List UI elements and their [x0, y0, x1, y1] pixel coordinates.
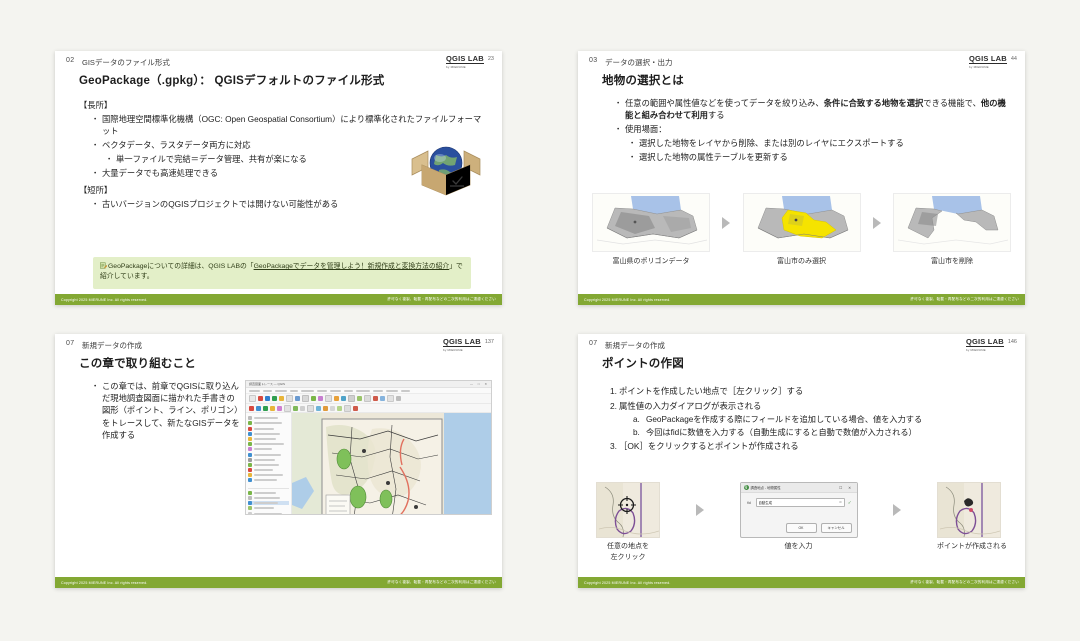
bullet-text-c: する [708, 110, 725, 120]
brand-logo: QGIS LAB by MIERUNE 23 [446, 55, 494, 70]
qgis-icon: Q [744, 485, 749, 490]
section-number: 03 [589, 57, 597, 64]
slide-geopackage[interactable]: 02 GISデータのファイル形式 QGIS LAB by MIERUNE 23 … [55, 51, 502, 305]
step-caption-line-2: 左クリック [596, 553, 660, 564]
list-item: 任意の範囲や属性値などを使ってデータを絞り込み、条件に合致する地物を選択できる機… [614, 97, 1011, 122]
section-title: データの選択・出力 [605, 57, 673, 68]
section-number: 07 [589, 340, 597, 347]
dialog-title: 調査地点 - 地物属性 [751, 485, 781, 490]
logo-subtext: by MIERUNE [443, 348, 463, 353]
list-item: 3. ［OK］をクリックするとポイントが作成される [604, 440, 1011, 454]
brand-logo: QGIS LAB by MIERUNE 146 [966, 338, 1017, 353]
map-caption: 富山市を削除 [893, 256, 1011, 266]
toyama-deleted-map-icon [894, 194, 1011, 252]
logo-subtext: by MIERUNE [966, 348, 986, 353]
step-text: 属性値の入力ダイアログが表示される [619, 401, 761, 411]
app-toolbar-row-1 [246, 394, 491, 404]
slide-footer: Copyright 2025 MIERUNE Inc. All rights r… [578, 577, 1025, 588]
list-item: a. GeoPackageを作成する際にフィールドを追加している場合、値を入力す… [633, 413, 1011, 426]
footer-copyright: Copyright 2025 MIERUNE Inc. All rights r… [584, 581, 671, 585]
map-step-2: 富山市のみ選択 [743, 193, 861, 266]
map-caption: 富山県のポリゴンデータ [592, 256, 710, 266]
step-thumb-3: ポイントが作成される [937, 482, 1007, 553]
list-item: 選択した地物の属性テーブルを更新する [628, 151, 1011, 163]
substep-text: GeoPackageを作成する際にフィールドを追加している場合、値を入力する [646, 415, 922, 424]
arrow-right-icon [696, 504, 704, 516]
section-number: 07 [66, 340, 74, 347]
sub-bullet-list: 選択した地物をレイヤから削除、または別のレイヤにエクスポートする 選択した地物の… [628, 137, 1011, 163]
section-title: 新規データの作成 [82, 340, 142, 351]
map-caption: 富山市のみ選択 [743, 256, 861, 266]
app-toolbar-row-2 [246, 404, 491, 413]
toyama-base-map-icon [593, 194, 710, 252]
map-thumbnail-click-point [596, 482, 660, 538]
section-title: GISデータのファイル形式 [82, 57, 170, 68]
map-example-strip: 富山県のポリゴンデータ 富山市のみ選択 [592, 193, 1011, 266]
map-canvas-content-icon [292, 413, 491, 515]
footer-notice: 許可なく複製、転載・再配布などの二次的利用はご遠慮ください [910, 297, 1019, 302]
list-item: 選択した地物をレイヤから削除、または別のレイヤにエクスポートする [628, 137, 1011, 149]
map-thumbnail-deleted [893, 193, 1011, 252]
arrow-right-icon [893, 504, 901, 516]
slide-header: 07 新規データの作成 QGIS LAB by MIERUNE 137 [55, 334, 502, 354]
page-title: GeoPackage（.gpkg）： QGISデフォルトのファイル形式 [79, 72, 502, 88]
map-step-1: 富山県のポリゴンデータ [592, 193, 710, 266]
substep-text: 今回はfidに数値を入力する（自動生成にすると自動で数値が入力される） [646, 428, 917, 437]
bullet-text-b: できる機能で、 [923, 98, 981, 108]
footer-notice: 許可なく複製、転載・再配布などの二次的利用はご遠慮ください [387, 580, 496, 585]
slide-board: 02 GISデータのファイル形式 QGIS LAB by MIERUNE 23 … [0, 0, 1080, 641]
logo-text: QGIS LAB [443, 338, 481, 347]
main-bullet-list: この章では、前章でQGISに取り込んだ現地調査図面に描かれた手書きの図形（ポイン… [91, 380, 242, 442]
bullet-bold-a: 条件に合致する地物を選択 [824, 98, 924, 108]
app-map-canvas[interactable] [292, 413, 491, 515]
arrow-right-icon [722, 217, 730, 229]
globe-box-icon [406, 137, 486, 199]
map-thumbnail-base [592, 193, 710, 252]
memo-icon [100, 262, 107, 269]
step-caption: 任意の地点を 左クリック [596, 542, 660, 563]
list-item: 国際地理空間標準化機構（OGC: Open Geospatial Consort… [91, 113, 488, 138]
field-value: 自動生成 [759, 500, 773, 505]
window-controls: — □ ✕ [470, 382, 489, 386]
step-thumb-2: Q 調査地点 - 地物属性 ☐ ✕ fid 自動生成 ⊘ ✓ OK [740, 482, 858, 553]
substep-marker: a. [633, 413, 640, 426]
step-caption: 値を入力 [740, 542, 858, 553]
map-thumbnail-point-created [937, 482, 1001, 538]
slide-header: 03 データの選択・出力 QGIS LAB by MIERUNE 44 [578, 51, 1025, 71]
dialog-title-bar: Q 調査地点 - 地物属性 ☐ ✕ [741, 483, 857, 493]
slide-feature-selection[interactable]: 03 データの選択・出力 QGIS LAB by MIERUNE 44 地物の選… [578, 51, 1025, 305]
logo-text: QGIS LAB [966, 338, 1004, 347]
step-example-strip: 任意の地点を 左クリック Q 調査地点 - 地物属性 ☐ ✕ fid 自動生成 [596, 482, 1007, 563]
callout-link[interactable]: GeoPackageでデータを管理しよう！新規作成と変換方法の紹介 [254, 263, 450, 270]
footer-notice: 許可なく複製、転載・再配布などの二次的利用はご遠慮ください [910, 580, 1019, 585]
page-number: 146 [1008, 339, 1017, 345]
step-marker: 2. [604, 400, 617, 414]
brand-logo: QGIS LAB by MIERUNE 137 [443, 338, 494, 353]
arrow-right-icon [873, 217, 881, 229]
globe-in-box-illustration [406, 137, 486, 199]
step-text: ［OK］をクリックするとポイントが作成される [619, 441, 799, 451]
bullet-text-a: 任意の範囲や属性値などを使ってデータを絞り込み、 [625, 98, 824, 108]
list-item: 古いバージョンのQGISプロジェクトでは開けない可能性がある [91, 198, 488, 210]
callout-text: GeoPackageについての詳細は、QGIS LABの「GeoPackageで… [100, 262, 464, 283]
callout-box: GeoPackageについての詳細は、QGIS LABの「GeoPackageで… [93, 257, 471, 289]
page-title: ポイントの作図 [602, 355, 1025, 371]
page-title: 地物の選択とは [602, 72, 1025, 88]
section-number: 02 [66, 57, 74, 64]
page-number: 23 [488, 56, 494, 62]
slide-footer: Copyright 2025 MIERUNE Inc. All rights r… [55, 294, 502, 305]
brand-logo: QGIS LAB by MIERUNE 44 [969, 55, 1017, 70]
step-list: 1. ポイントを作成したい地点で［左クリック］する 2. 属性値の入力ダイアログ… [604, 385, 1011, 454]
logo-subtext: by MIERUNE [969, 65, 989, 70]
footer-notice: 許可なく複製、転載・再配布などの二次的利用はご遠慮ください [387, 297, 496, 302]
dialog-field-row: fid 自動生成 ⊘ ✓ [741, 493, 857, 507]
list-item: 1. ポイントを作成したい地点で［左クリック］する [604, 385, 1011, 399]
step-thumb-1: 任意の地点を 左クリック [596, 482, 660, 563]
slide-header: 02 GISデータのファイル形式 QGIS LAB by MIERUNE 23 [55, 51, 502, 71]
slide-body: 任意の範囲や属性値などを使ってデータを絞り込み、条件に合致する地物を選択できる機… [578, 88, 1025, 163]
footer-copyright: Copyright 2025 MIERUNE Inc. All rights r… [61, 581, 148, 585]
ok-button[interactable]: OK [786, 523, 817, 533]
page-number: 137 [485, 339, 494, 345]
logo-text: QGIS LAB [969, 55, 1007, 64]
step-marker: 1. [604, 385, 617, 399]
merit-label: 【長所】 [79, 99, 488, 111]
map-step-3: 富山市を削除 [893, 193, 1011, 266]
slide-header: 07 新規データの作成 QGIS LAB by MIERUNE 146 [578, 334, 1025, 354]
app-main-area [246, 413, 491, 515]
slide-point-drawing[interactable]: 07 新規データの作成 QGIS LAB by MIERUNE 146 ポイント… [578, 334, 1025, 588]
substep-marker: b. [633, 426, 640, 439]
section-title: 新規データの作成 [605, 340, 665, 351]
step-marker: 3. [604, 440, 617, 454]
list-item: この章では、前章でQGISに取り込んだ現地調査図面に描かれた手書きの図形（ポイン… [91, 380, 242, 442]
list-item: 2. 属性値の入力ダイアログが表示される a. GeoPackageを作成する際… [604, 400, 1011, 440]
cancel-button[interactable]: キャンセル [821, 523, 852, 533]
page-number: 44 [1011, 56, 1017, 62]
slide-footer: Copyright 2025 MIERUNE Inc. All rights r… [578, 294, 1025, 305]
step-text: ポイントを作成したい地点で［左クリック］する [619, 386, 803, 396]
field-label: fid [746, 501, 753, 505]
point-created-map-icon [938, 483, 1001, 538]
step-caption-line-1: 任意の地点を [596, 542, 660, 553]
slide-footer: Copyright 2025 MIERUNE Inc. All rights r… [55, 577, 502, 588]
qgis-application-screenshot: 調査図面トレース — QGIS — □ ✕ [245, 380, 492, 515]
page-title: この章で取り組むこと [79, 355, 502, 371]
step-caption: ポイントが作成される [937, 542, 1007, 553]
demerit-list: 古いバージョンのQGISプロジェクトでは開けない可能性がある [91, 198, 488, 210]
step-caption-line-1: ポイントが作成される [937, 542, 1007, 553]
check-icon: ✓ [848, 500, 852, 506]
dialog-buttons: OK キャンセル [786, 523, 852, 533]
clear-icon[interactable]: ⊘ [839, 500, 842, 504]
main-bullet-list: 任意の範囲や属性値などを使ってデータを絞り込み、条件に合致する地物を選択できる機… [614, 97, 1011, 136]
dialog-window-controls[interactable]: ☐ ✕ [839, 486, 853, 490]
footer-copyright: Copyright 2025 MIERUNE Inc. All rights r… [61, 298, 148, 302]
list-item: b. 今回はfidに数値を入力する（自動生成にすると自動で数値が入力される） [633, 426, 1011, 439]
logo-subtext: by MIERUNE [446, 65, 466, 70]
fid-input[interactable]: 自動生成 ⊘ [756, 498, 845, 507]
map-thumbnail-selected [743, 193, 861, 252]
attribute-dialog[interactable]: Q 調査地点 - 地物属性 ☐ ✕ fid 自動生成 ⊘ ✓ OK [740, 482, 858, 538]
click-point-map-icon [597, 483, 660, 538]
slide-body: 1. ポイントを作成したい地点で［左クリック］する 2. 属性値の入力ダイアログ… [578, 371, 1025, 454]
logo-text: QGIS LAB [446, 55, 484, 64]
app-layers-panel[interactable] [246, 413, 292, 515]
substep-list: a. GeoPackageを作成する際にフィールドを追加している場合、値を入力す… [633, 413, 1011, 439]
callout-prefix: GeoPackageについての詳細は、QGIS LABの「 [108, 263, 254, 270]
footer-copyright: Copyright 2025 MIERUNE Inc. All rights r… [584, 298, 671, 302]
app-title-bar: 調査図面トレース — QGIS — □ ✕ [246, 381, 491, 388]
toyama-selected-map-icon [744, 194, 861, 252]
list-item: 使用場面： [614, 123, 1011, 135]
app-window-title: 調査図面トレース — QGIS [249, 382, 285, 386]
step-caption-line-1: 値を入力 [740, 542, 858, 553]
slide-chapter-intro[interactable]: 07 新規データの作成 QGIS LAB by MIERUNE 137 この章で… [55, 334, 502, 588]
